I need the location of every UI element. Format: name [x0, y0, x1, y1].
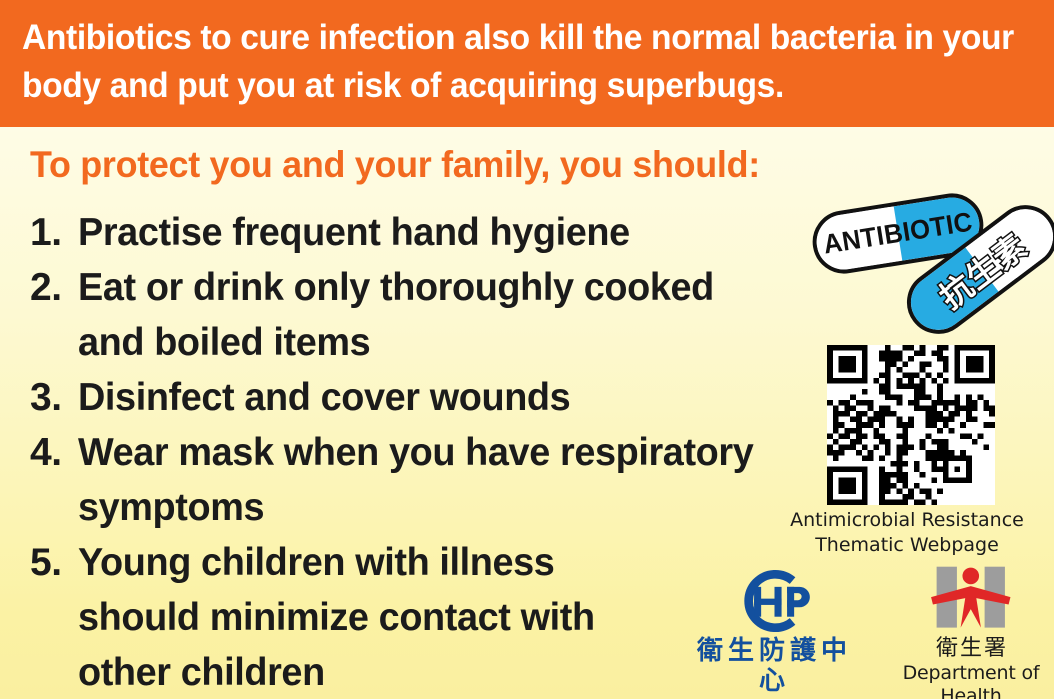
list-item-line-1: Disinfect and cover wounds [78, 376, 570, 419]
list-item-line-1: Wear mask when you have respiratory [78, 431, 753, 474]
chp-chinese-name: 衛生防護中心 [684, 636, 860, 696]
qr-code-canvas[interactable] [827, 345, 995, 505]
list-item-line-1: Eat or drink only thoroughly cooked [78, 266, 714, 309]
list-item-line-1: Practise frequent hand hygiene [78, 211, 630, 254]
antibiotic-capsule-illustration: ANTIBIOTIC 抗生素 [798, 196, 1054, 331]
list-item-text: Young children with illness should minim… [78, 535, 778, 699]
health-poster: Antibiotics to cure infection also kill … [0, 0, 1054, 699]
list-item: 3. Disinfect and cover wounds [30, 370, 800, 425]
list-item-text: Eat or drink only thoroughly cooked and … [78, 260, 778, 370]
banner-line-2: body and put you at risk of acquiring su… [22, 62, 994, 110]
chp-monogram-icon [725, 568, 819, 634]
doh-figure-icon [920, 563, 1022, 635]
list-item-text: Practise frequent hand hygiene [78, 205, 778, 260]
list-item-text: Disinfect and cover wounds [78, 370, 778, 425]
doh-logo: 衛生署 Department of Health [888, 563, 1054, 699]
list-item-number: 1. [30, 205, 78, 260]
list-item-line-3: other children [78, 645, 778, 699]
section-subheading: To protect you and your family, you shou… [30, 143, 760, 187]
doh-chinese-name: 衛生署 [888, 636, 1054, 662]
banner-headline: Antibiotics to cure infection also kill … [0, 0, 1054, 127]
list-item: 2. Eat or drink only thoroughly cooked a… [30, 260, 800, 370]
list-item-number: 4. [30, 425, 78, 480]
qr-caption-line-2: Thematic Webpage [760, 533, 1054, 558]
banner-line-1: Antibiotics to cure infection also kill … [22, 14, 994, 62]
list-item-text: Wear mask when you have respiratory symp… [78, 425, 778, 535]
list-item-line-2: and boiled items [78, 315, 778, 370]
list-item-number: 5. [30, 535, 78, 590]
qr-code[interactable] [827, 345, 995, 505]
list-item-line-1: Young children with illness [78, 541, 554, 584]
list-item-line-2: symptoms [78, 480, 778, 535]
list-item-number: 3. [30, 370, 78, 425]
list-item-number: 2. [30, 260, 78, 315]
qr-caption-line-1: Antimicrobial Resistance [760, 508, 1054, 533]
list-item: 1. Practise frequent hand hygiene [30, 205, 800, 260]
doh-english-name: Department of Health [888, 662, 1054, 699]
chp-logo: 衛生防護中心 Centre for Health Protection [684, 568, 860, 699]
list-item-line-2: should minimize contact with [78, 590, 778, 645]
list-item: 4. Wear mask when you have respiratory s… [30, 425, 800, 535]
qr-code-caption: Antimicrobial Resistance Thematic Webpag… [760, 508, 1054, 558]
